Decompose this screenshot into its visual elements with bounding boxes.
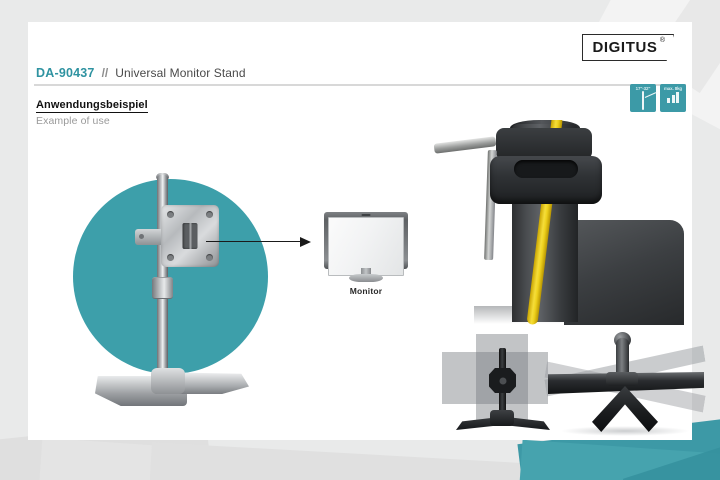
monitor-stand-illustration <box>73 172 268 402</box>
digitus-logo: DIGITUS ® <box>582 34 674 61</box>
section-title-de: Anwendungsbeispiel <box>36 99 148 113</box>
stand-base <box>95 368 247 412</box>
content-sheet: DIGITUS ® DA-90437 // Universal Monitor … <box>28 22 692 440</box>
product-name: Universal Monitor Stand <box>115 66 245 80</box>
load-capacity-badge: max. 8kg <box>660 84 686 112</box>
product-sku: DA-90437 <box>36 66 95 80</box>
vesa-plate <box>161 205 219 267</box>
product-header: DA-90437 // Universal Monitor Stand <box>34 66 686 86</box>
swivel-hub <box>606 372 638 386</box>
base-foot-center <box>490 410 514 426</box>
monitor-icon <box>642 92 644 110</box>
corner-shape-teal-2 <box>518 440 720 480</box>
header-separator: // <box>102 66 109 80</box>
product-header-row: DA-90437 // Universal Monitor Stand <box>34 66 686 80</box>
cable-clip <box>490 156 602 204</box>
photo-shadow <box>560 426 690 436</box>
load-capacity-badge-caption: max. 8kg <box>664 86 682 91</box>
feature-badges: 17"-32" max. 8kg <box>630 84 686 112</box>
vesa-plate-black <box>489 368 516 393</box>
monitor-illustration: Monitor <box>324 212 408 282</box>
vesa-hole <box>206 211 213 218</box>
pole-collar <box>152 277 173 299</box>
corner-shape-bottom-center <box>149 442 572 480</box>
monitor-back-panel <box>564 220 684 325</box>
monitor-camera-icon <box>362 214 371 216</box>
screen-size-badge: 17"-32" <box>630 84 656 112</box>
datasheet-page: DIGITUS ® DA-90437 // Universal Monitor … <box>0 0 720 480</box>
base-hub <box>151 368 185 394</box>
section-heading: Anwendungsbeispiel Example of use <box>36 95 148 127</box>
flow-arrow-icon <box>206 237 311 247</box>
monitor-foot <box>349 274 383 282</box>
monitor-label: Monitor <box>324 286 408 296</box>
swivel-range-photo <box>540 328 710 440</box>
pole-cable-management-photo <box>434 120 684 325</box>
corner-shape-bottom-left-2 <box>38 438 341 480</box>
registered-trademark-icon: ® <box>660 37 665 44</box>
vesa-hole <box>167 254 174 261</box>
vesa-hole <box>167 211 174 218</box>
vesa-slot <box>183 223 198 249</box>
header-divider <box>34 84 686 86</box>
arrow-head <box>300 237 311 247</box>
vesa-hole <box>206 254 213 261</box>
bars-icon <box>667 92 679 103</box>
section-title-en: Example of use <box>36 115 148 127</box>
arrow-line <box>206 241 300 242</box>
cable-clip-channel <box>514 160 578 178</box>
